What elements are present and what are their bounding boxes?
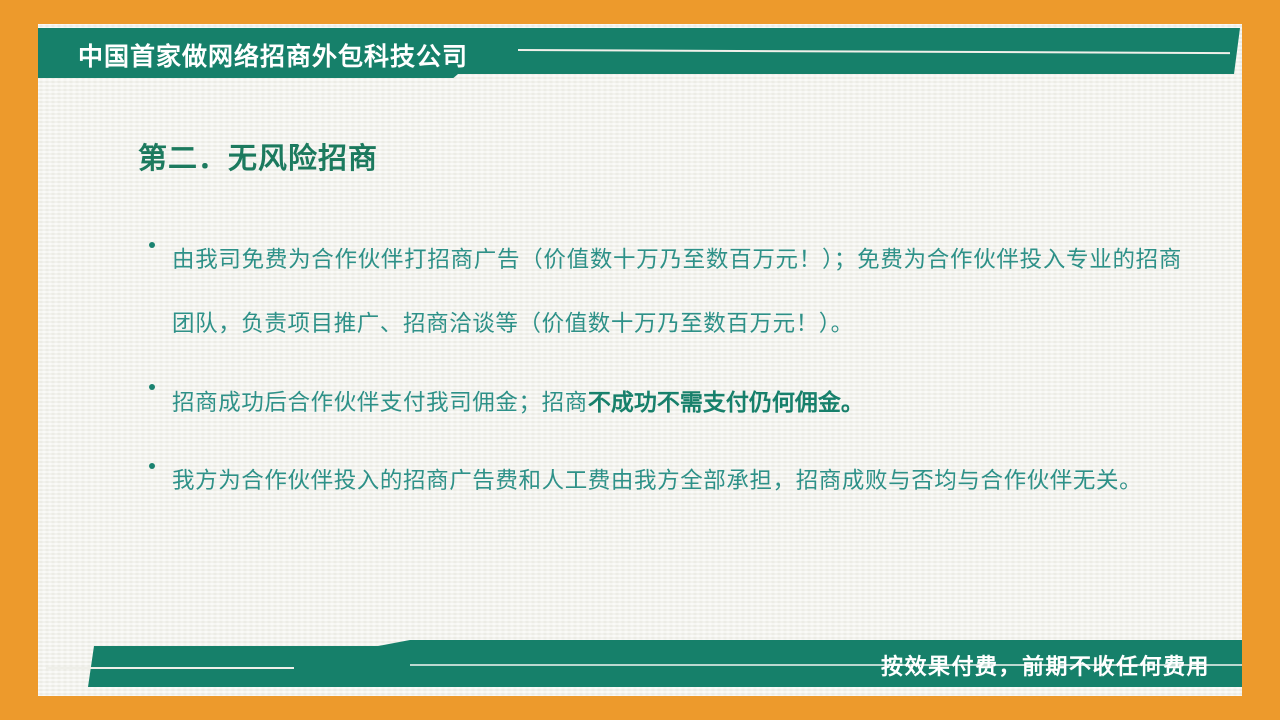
header-banner: 中国首家做网络招商外包科技公司 [38,28,1242,78]
slide-canvas: 中国首家做网络招商外包科技公司 第二．无风险招商 由我司免费为合作伙伴打招商广告… [0,0,1280,720]
list-item-text: 由我司免费为合作伙伴打招商广告（价值数十万乃至数百万元！）；免费为合作伙伴投入专… [172,228,1182,356]
footer-banner: 按效果付费，前期不收任何费用 [38,640,1242,696]
list-item: 我方为合作伙伴投入的招商广告费和人工费由我方全部承担，招商成败与否均与合作伙伴无… [142,449,1182,513]
bullet-dot-icon [149,242,155,248]
footer-hairline-left [46,667,294,669]
list-item-text-plain: 招商成功后合作伙伴支付我司佣金；招商 [172,390,588,415]
footer-tagline: 按效果付费，前期不收任何费用 [881,649,1210,681]
list-item: 由我司免费为合作伙伴打招商广告（价值数十万乃至数百万元！）；免费为合作伙伴投入专… [142,228,1182,356]
bullet-dot-icon [149,384,155,390]
list-item-text-emphasis: 不成功不需支付仍何佣金。 [588,389,864,415]
header-title: 中国首家做网络招商外包科技公司 [78,37,468,73]
bullet-dot-icon [149,463,155,469]
list-item: 招商成功后合作伙伴支付我司佣金；招商不成功不需支付仍何佣金。 [142,370,1182,435]
list-item-text-plain: 由我司免费为合作伙伴打招商广告（价值数十万乃至数百万元！）；免费为合作伙伴投入专… [172,247,1182,336]
bullet-list: 由我司免费为合作伙伴打招商广告（价值数十万乃至数百万元！）；免费为合作伙伴投入专… [142,228,1182,527]
list-item-text-plain: 我方为合作伙伴投入的招商广告费和人工费由我方全部承担，招商成败与否均与合作伙伴无… [172,468,1142,493]
page-title: 第二．无风险招商 [138,135,378,177]
list-item-text: 我方为合作伙伴投入的招商广告费和人工费由我方全部承担，招商成败与否均与合作伙伴无… [172,449,1182,513]
list-item-text: 招商成功后合作伙伴支付我司佣金；招商不成功不需支付仍何佣金。 [172,370,1182,435]
